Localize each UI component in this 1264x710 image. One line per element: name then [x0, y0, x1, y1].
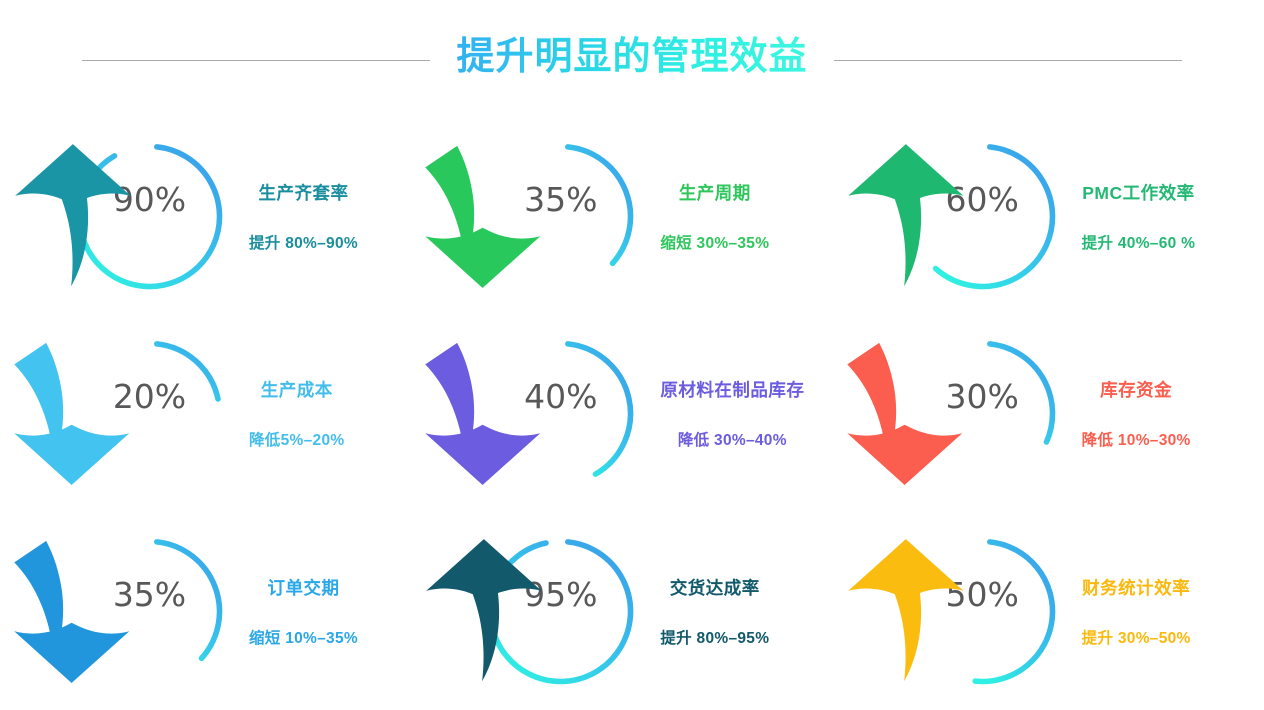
- metric-text-block: 生产齐套率提升 80%–90%: [249, 180, 358, 253]
- metric-name: 财务统计效率: [1082, 575, 1190, 600]
- arrow-up-icon: [0, 139, 150, 294]
- arrow-up-icon: [827, 534, 982, 689]
- gauge-ring: 50%: [905, 534, 1060, 689]
- metric-name: 生产成本: [261, 377, 333, 402]
- gauge-ring: 35%: [72, 534, 227, 689]
- metric-card: 35%订单交期缩短 10%–35%: [0, 513, 421, 710]
- gauge-ring: 30%: [905, 336, 1060, 491]
- metric-change: 提升 80%–90%: [249, 231, 358, 253]
- metric-text-block: 财务统计效率提升 30%–50%: [1082, 575, 1191, 648]
- metric-change: 提升 80%–95%: [660, 626, 769, 648]
- gauge-ring: 40%: [483, 336, 638, 491]
- arrow-down-icon: [406, 139, 561, 294]
- metric-name: 生产周期: [679, 180, 751, 205]
- metrics-grid: 90%生产齐套率提升 80%–90%35%生产周期缩短 30%–35%60%PM…: [0, 118, 1264, 710]
- metric-name: 交货达成率: [670, 575, 760, 600]
- metric-text-block: 订单交期缩短 10%–35%: [249, 575, 358, 648]
- metric-name: 库存资金: [1100, 377, 1172, 402]
- arrow-up-icon: [827, 139, 982, 294]
- metric-name: 生产齐套率: [258, 180, 348, 205]
- metric-change: 缩短 10%–35%: [249, 626, 358, 648]
- header-rule-left: [82, 60, 430, 61]
- header-rule-right: [834, 60, 1182, 61]
- arrow-down-icon: [406, 336, 561, 491]
- metric-text-block: 生产周期缩短 30%–35%: [660, 180, 769, 253]
- metric-card: 90%生产齐套率提升 80%–90%: [0, 118, 421, 315]
- metric-card: 50%财务统计效率提升 30%–50%: [843, 513, 1264, 710]
- metric-change: 降低5%–20%: [249, 428, 344, 450]
- page-header: 提升明显的管理效益: [0, 0, 1264, 120]
- metric-change: 降低 30%–40%: [678, 428, 787, 450]
- metric-name: 订单交期: [267, 575, 339, 600]
- metric-text-block: 原材料在制品库存降低 30%–40%: [660, 377, 804, 450]
- arrow-down-icon: [827, 336, 982, 491]
- gauge-ring: 20%: [72, 336, 227, 491]
- gauge-ring: 35%: [483, 139, 638, 294]
- arrow-down-icon: [0, 336, 150, 491]
- gauge-ring: 95%: [483, 534, 638, 689]
- metric-card: 20%生产成本降低5%–20%: [0, 315, 421, 512]
- metric-change: 提升 40%–60 %: [1082, 231, 1196, 253]
- metric-card: 30%库存资金降低 10%–30%: [843, 315, 1264, 512]
- metric-text-block: 生产成本降低5%–20%: [249, 377, 344, 450]
- metric-change: 缩短 30%–35%: [660, 231, 769, 253]
- metric-name: 原材料在制品库存: [660, 377, 804, 402]
- metric-card: 60%PMC工作效率提升 40%–60 %: [843, 118, 1264, 315]
- arrow-down-icon: [0, 534, 150, 689]
- metric-card: 95%交货达成率提升 80%–95%: [421, 513, 842, 710]
- gauge-ring: 60%: [905, 139, 1060, 294]
- gauge-ring: 90%: [72, 139, 227, 294]
- metric-text-block: PMC工作效率提升 40%–60 %: [1082, 180, 1196, 253]
- metric-change: 降低 10%–30%: [1082, 428, 1191, 450]
- metric-card: 40%原材料在制品库存降低 30%–40%: [421, 315, 842, 512]
- arrow-up-icon: [406, 534, 561, 689]
- metric-text-block: 交货达成率提升 80%–95%: [660, 575, 769, 648]
- page-title: 提升明显的管理效益: [456, 33, 807, 87]
- metric-change: 提升 30%–50%: [1082, 626, 1191, 648]
- metric-name: PMC工作效率: [1082, 180, 1194, 205]
- metric-card: 35%生产周期缩短 30%–35%: [421, 118, 842, 315]
- metric-text-block: 库存资金降低 10%–30%: [1082, 377, 1191, 450]
